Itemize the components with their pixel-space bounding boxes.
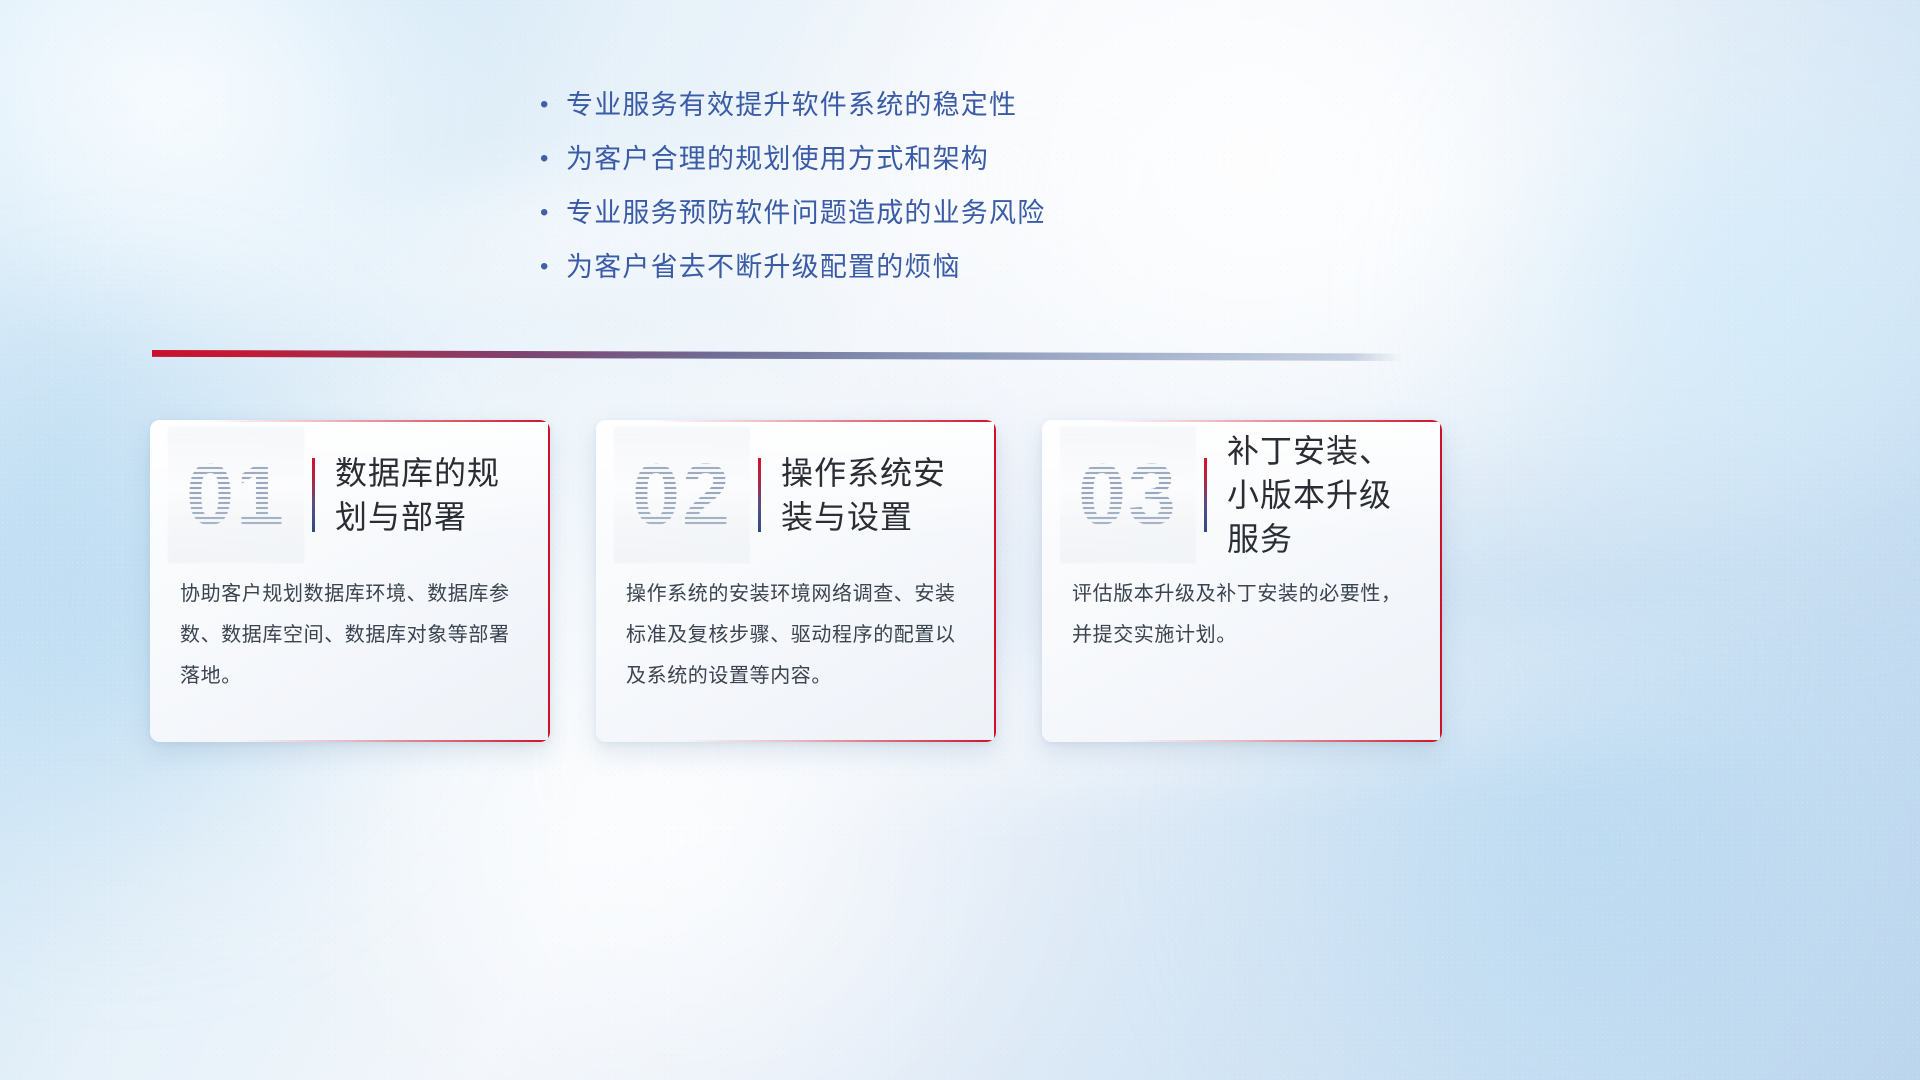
card-accent-bar (758, 458, 761, 532)
list-item: • 为客户省去不断升级配置的烦恼 (540, 250, 1240, 284)
card-header: 01 数据库的规划与部署 (150, 420, 550, 570)
card-title: 补丁安装、小版本升级服务 (1227, 429, 1420, 561)
bullet-dot-icon: • (540, 250, 566, 284)
service-card-group: 01 数据库的规划与部署 协助客户规划数据库环境、数据库参数、数据库空间、数据库… (150, 420, 1442, 742)
card-number-watermark: 03 (1060, 427, 1196, 563)
background-glow-top-left (0, 0, 500, 400)
section-divider (152, 350, 1402, 361)
card-title: 数据库的规划与部署 (335, 451, 528, 539)
card-description: 操作系统的安装环境网络调查、安装标准及复核步骤、驱动程序的配置以及系统的设置等内… (596, 574, 996, 697)
card-accent-bar (312, 458, 315, 532)
card-red-edge-bottom (684, 740, 996, 742)
list-item: • 专业服务有效提升软件系统的稳定性 (540, 88, 1240, 122)
card-description: 协助客户规划数据库环境、数据库参数、数据库空间、数据库对象等部署落地。 (150, 574, 550, 697)
card-header: 03 补丁安装、小版本升级服务 (1042, 420, 1442, 570)
card-red-edge-bottom (238, 740, 550, 742)
list-item: • 为客户合理的规划使用方式和架构 (540, 142, 1240, 176)
benefits-bullet-list: • 专业服务有效提升软件系统的稳定性 • 为客户合理的规划使用方式和架构 • 专… (540, 88, 1240, 304)
service-card-02[interactable]: 02 操作系统安装与设置 操作系统的安装环境网络调查、安装标准及复核步骤、驱动程… (596, 420, 996, 742)
bullet-text: 专业服务有效提升软件系统的稳定性 (566, 88, 1017, 122)
background-glow-right (1430, 40, 1920, 560)
card-accent-bar (1204, 458, 1207, 532)
bullet-text: 为客户合理的规划使用方式和架构 (566, 142, 989, 176)
bullet-dot-icon: • (540, 88, 566, 122)
bullet-dot-icon: • (540, 142, 566, 176)
card-header: 02 操作系统安装与设置 (596, 420, 996, 570)
card-number-watermark: 01 (168, 427, 304, 563)
bullet-text: 为客户省去不断升级配置的烦恼 (566, 250, 961, 284)
card-description: 评估版本升级及补丁安装的必要性，并提交实施计划。 (1042, 574, 1442, 656)
bullet-dot-icon: • (540, 196, 566, 230)
card-number-watermark: 02 (614, 427, 750, 563)
list-item: • 专业服务预防软件问题造成的业务风险 (540, 196, 1240, 230)
service-card-03[interactable]: 03 补丁安装、小版本升级服务 评估版本升级及补丁安装的必要性，并提交实施计划。 (1042, 420, 1442, 742)
service-card-01[interactable]: 01 数据库的规划与部署 协助客户规划数据库环境、数据库参数、数据库空间、数据库… (150, 420, 550, 742)
bullet-text: 专业服务预防软件问题造成的业务风险 (566, 196, 1045, 230)
card-red-edge-bottom (1130, 740, 1442, 742)
card-title: 操作系统安装与设置 (781, 451, 974, 539)
slide-canvas: • 专业服务有效提升软件系统的稳定性 • 为客户合理的规划使用方式和架构 • 专… (0, 0, 1920, 1080)
